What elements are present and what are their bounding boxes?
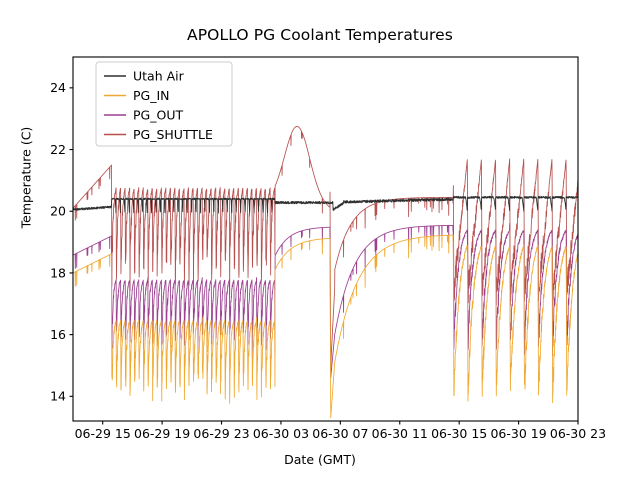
series-layer (73, 126, 578, 417)
legend-label-pg-out: PG_OUT (133, 108, 183, 123)
legend[interactable]: Utah AirPG_INPG_OUTPG_SHUTTLE (96, 62, 232, 146)
y-tick-label: 22 (50, 142, 66, 157)
y-tick-label: 16 (50, 327, 66, 342)
figure-canvas: APOLLO PG Coolant Temperatures Temperatu… (0, 0, 640, 480)
legend-label-pg-shuttle: PG_SHUTTLE (133, 127, 213, 142)
series-pg-shuttle (73, 126, 578, 365)
x-tick-label: 06-30 23 (550, 426, 606, 441)
legend-label-utah-air: Utah Air (133, 69, 185, 84)
x-tick-label: 06-29 19 (134, 426, 190, 441)
plot-area: 14161820222406-29 1506-29 1906-29 2306-3… (0, 0, 640, 480)
legend-label-pg-in: PG_IN (133, 88, 170, 103)
x-tick-label: 06-30 15 (431, 426, 487, 441)
x-tick-label: 06-30 19 (490, 426, 546, 441)
y-tick-label: 14 (50, 389, 66, 404)
y-tick-label: 20 (50, 204, 66, 219)
y-tick-label: 18 (50, 265, 66, 280)
x-tick-label: 06-30 03 (253, 426, 309, 441)
x-tick-label: 06-29 15 (75, 426, 131, 441)
x-tick-label: 06-30 11 (372, 426, 428, 441)
series-utah-air (73, 196, 578, 213)
x-tick-label: 06-29 23 (193, 426, 249, 441)
x-tick-label: 06-30 07 (312, 426, 368, 441)
y-tick-label: 24 (50, 80, 66, 95)
